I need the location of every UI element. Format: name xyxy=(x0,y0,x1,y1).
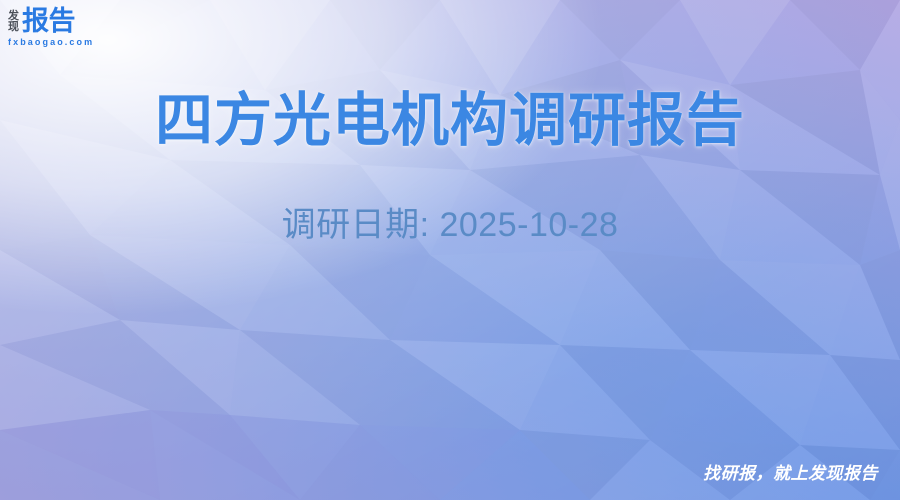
logo-mark-fa-xian: 发 现 xyxy=(8,10,19,33)
low-poly-background xyxy=(0,0,900,500)
logo-row: 发 现 报告 xyxy=(8,8,94,35)
logo-mark-bottom-char: 现 xyxy=(8,22,19,33)
logo-wordmark: 报告 xyxy=(22,8,75,35)
footer-slogan: 找研报，就上发现报告 xyxy=(703,459,878,484)
brand-logo[interactable]: 发 现 报告 fxbaogao.com xyxy=(8,8,94,47)
logo-domain-text: fxbaogao.com xyxy=(8,37,94,47)
report-cover-page: 发 现 报告 fxbaogao.com 四方光电机构调研报告 调研日期: 202… xyxy=(0,0,900,500)
